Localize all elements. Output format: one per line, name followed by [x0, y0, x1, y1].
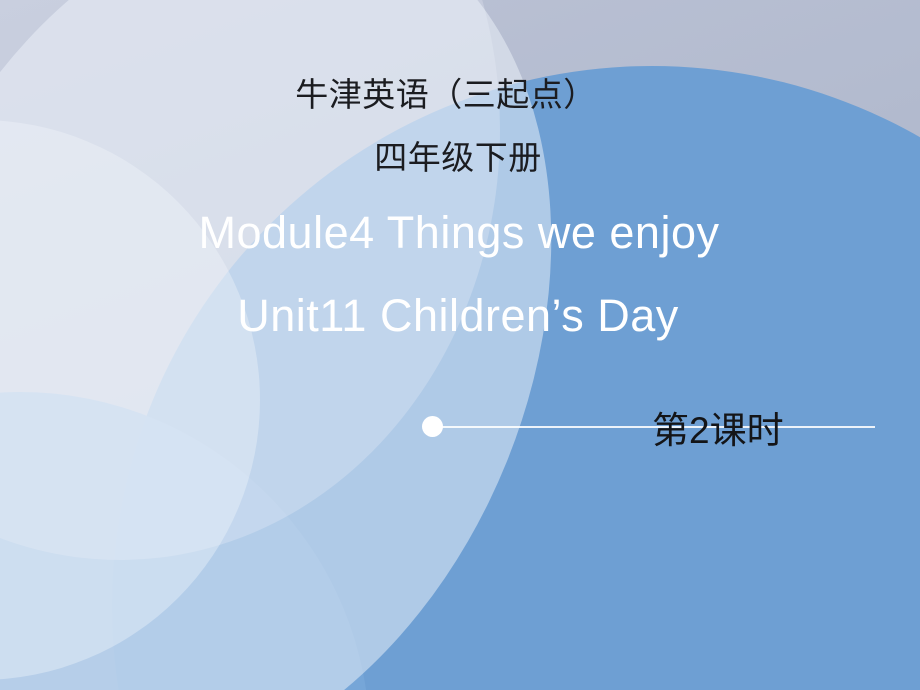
module-title: Module4 Things we enjoy: [0, 207, 919, 259]
title-slide: 牛津英语（三起点） 四年级下册 Module4 Things we enjoy …: [0, 0, 920, 690]
bullet-dot-icon: [422, 416, 443, 437]
grade-volume-line: 四年级下册: [0, 131, 918, 179]
textbook-series-line: 牛津英语（三起点）: [0, 68, 906, 116]
lesson-period-label: 第2课时: [652, 400, 784, 454]
decorative-circle-lower-left: [0, 392, 370, 690]
decorative-sliver-left: [0, 120, 260, 680]
unit-title: Unit11 Children’s Day: [0, 290, 918, 342]
